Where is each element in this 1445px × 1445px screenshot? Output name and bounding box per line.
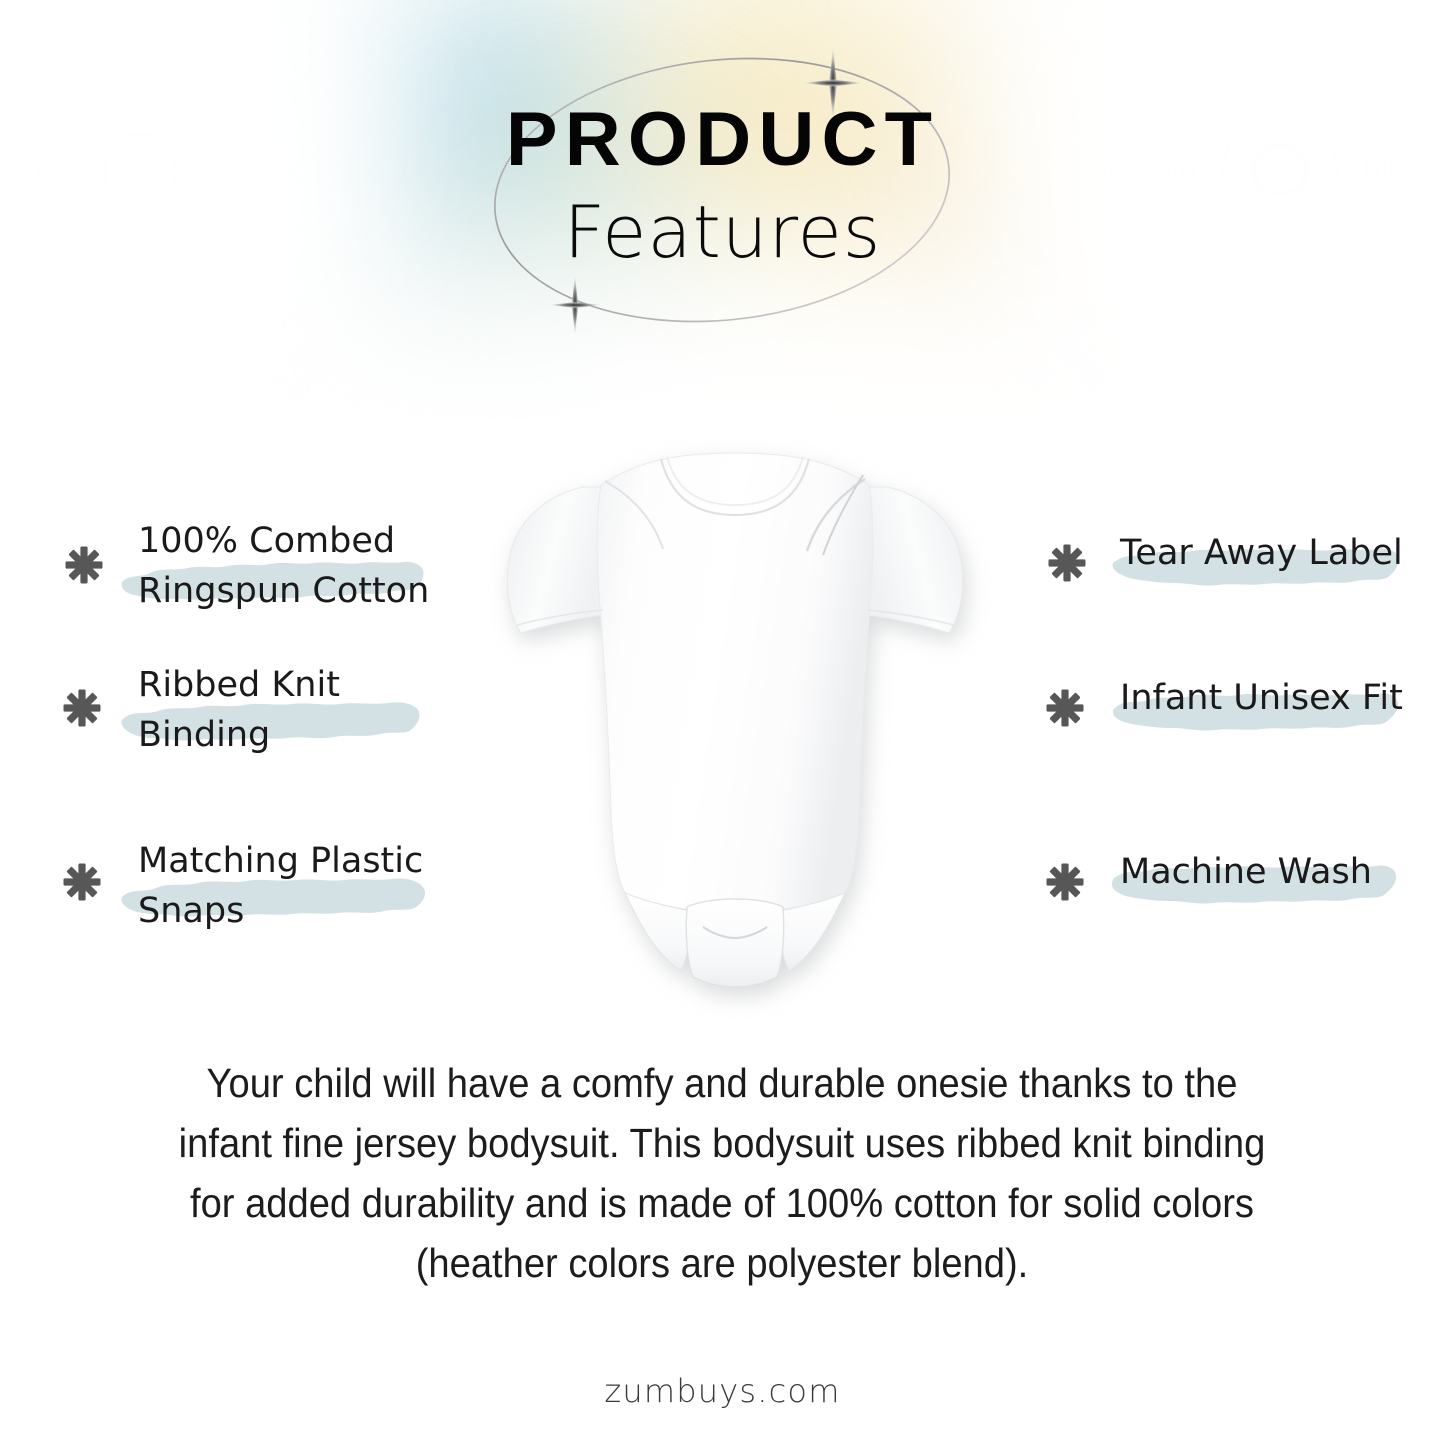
asterisk-icon	[62, 688, 102, 728]
asterisk-icon	[1045, 688, 1085, 728]
ellipse-ring	[482, 37, 963, 343]
feature-label: Matching Plastic Snaps	[138, 836, 478, 936]
asterisk-icon	[1045, 862, 1085, 902]
product-description: Your child will have a comfy and durable…	[164, 1053, 1280, 1293]
feature-label: Machine Wash	[1120, 847, 1445, 897]
gradient-blob-cream	[500, 0, 1060, 360]
feature-label: 100% Combed Ringspun Cotton	[138, 516, 468, 616]
feature-label: Infant Unisex Fit	[1120, 673, 1445, 723]
asterisk-icon	[1047, 543, 1087, 583]
onesie-body	[597, 453, 873, 913]
gradient-fade-right	[980, 0, 1445, 420]
gradient-fade-left	[0, 0, 400, 420]
feature-label: Ribbed Knit Binding	[138, 660, 468, 760]
gradient-fade-bottom	[200, 210, 1200, 420]
gradient-blob-cyan	[300, 0, 730, 330]
asterisk-icon	[64, 545, 104, 585]
header-gradient-backdrop	[0, 0, 1445, 420]
onesie-snap-flap	[686, 899, 784, 987]
asterisk-icon	[62, 862, 102, 902]
page-subtitle: Features	[0, 190, 1445, 274]
product-features-graphic: PRODUCT Features	[0, 0, 1445, 1445]
sparkle-icon	[800, 43, 866, 123]
gradient-blob-peach	[700, 60, 1120, 390]
sparkle-icon	[547, 272, 603, 338]
gradient-blob-mint	[330, 120, 810, 420]
header-decoration	[0, 0, 1445, 420]
footer-site-url: zumbuys.com	[0, 1372, 1445, 1410]
product-image	[455, 415, 1015, 1025]
feature-label: Tear Away Label	[1120, 528, 1445, 578]
onesie-illustration	[455, 415, 1015, 1025]
page-title: PRODUCT	[0, 96, 1445, 183]
